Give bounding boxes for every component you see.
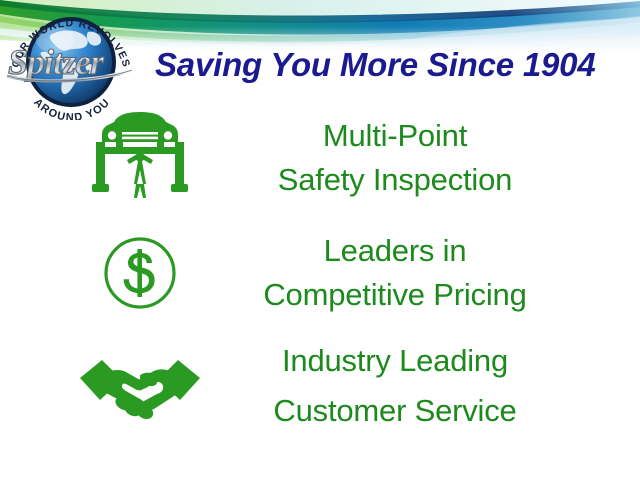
handshake-icon	[78, 352, 202, 420]
feature-row-inspection: Multi-Point Safety Inspection	[70, 110, 580, 206]
feature-text-service: Industry Leading Customer Service	[210, 336, 580, 436]
page-title: Saving You More Since 1904	[155, 44, 635, 86]
svg-text:Spitzer: Spitzer	[8, 42, 105, 82]
car-lift-icon-wrap	[70, 112, 210, 204]
dollar-circle-icon-wrap	[70, 235, 210, 311]
handshake-icon-wrap	[70, 352, 210, 420]
feature-line: Safety Inspection	[210, 158, 580, 202]
feature-line: Customer Service	[210, 386, 580, 436]
feature-row-service: Industry Leading Customer Service	[70, 336, 580, 436]
feature-text-pricing: Leaders in Competitive Pricing	[210, 229, 580, 317]
dollar-circle-icon	[102, 235, 178, 311]
feature-line: Competitive Pricing	[210, 273, 580, 317]
feature-row-pricing: Leaders in Competitive Pricing	[70, 227, 580, 319]
spitzer-logo[interactable]: OUR WORLD REVOLVES AROUND YOU Spitzer	[2, 4, 140, 120]
globe-icon: OUR WORLD REVOLVES AROUND YOU Spitzer	[2, 4, 140, 120]
feature-line: Multi-Point	[210, 114, 580, 158]
promo-slide: OUR WORLD REVOLVES AROUND YOU Spitzer Sa…	[0, 0, 640, 480]
car-lift-icon	[92, 112, 188, 204]
feature-line: Industry Leading	[210, 336, 580, 386]
feature-line: Leaders in	[210, 229, 580, 273]
feature-text-inspection: Multi-Point Safety Inspection	[210, 114, 580, 202]
